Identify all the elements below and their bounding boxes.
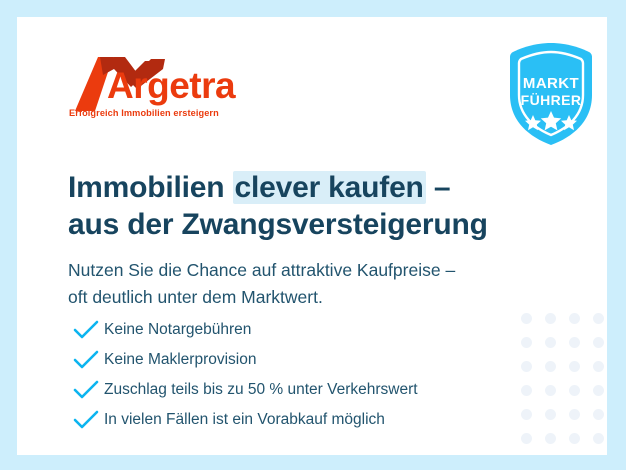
benefit-list: Keine Notargebühren Keine Maklerprovisio… [72,315,502,435]
list-item-label: Zuschlag teils bis zu 50 % unter Verkehr… [102,382,418,398]
dot [593,361,604,372]
badge-line-2: FÜHRER [495,92,607,108]
dot [569,361,580,372]
badge-line-1: MARKT [495,75,607,92]
dot [521,433,532,444]
subheading: Nutzen Sie die Chance auf attraktive Kau… [68,257,538,311]
promo-card: Argetra Erfolgreich Immobilien ersteiger… [17,17,607,455]
dot [569,433,580,444]
headline-highlight: clever kaufen [233,171,426,204]
dot [569,385,580,396]
headline-line-1-before: Immobilien [68,171,233,204]
list-item-label: Keine Notargebühren [102,322,251,338]
dot [545,385,556,396]
dot [521,313,532,324]
list-item-label: Keine Maklerprovision [102,352,257,368]
dot [545,361,556,372]
dot [521,385,532,396]
dot-grid-decoration [521,313,607,455]
dot [593,337,604,348]
dot [521,361,532,372]
argetra-logo[interactable]: Argetra Erfolgreich Immobilien ersteiger… [55,45,255,131]
list-item-label: In vielen Fällen ist ein Vorabkauf mögli… [102,412,385,428]
dot [593,313,604,324]
subheading-line-1: Nutzen Sie die Chance auf attraktive Kau… [68,257,538,284]
list-item: Keine Notargebühren [72,315,502,345]
dot [545,337,556,348]
check-icon [72,409,102,431]
list-item: In vielen Fällen ist ein Vorabkauf mögli… [72,405,502,435]
dot [593,409,604,420]
subheading-line-2: oft deutlich unter dem Marktwert. [68,284,538,311]
promo-banner: Argetra Erfolgreich Immobilien ersteiger… [0,0,626,470]
dot [521,409,532,420]
headline-line-1: Immobilien clever kaufen – [68,170,568,207]
dot [593,385,604,396]
logo-tagline: Erfolgreich Immobilien ersteigern [69,108,219,118]
check-icon [72,379,102,401]
logo-wordmark: Argetra [107,67,235,104]
badge-stars [495,111,607,131]
headline-line-2: aus der Zwangsversteigerung [68,207,568,244]
dot [521,337,532,348]
dot [545,433,556,444]
list-item: Zuschlag teils bis zu 50 % unter Verkehr… [72,375,502,405]
dot [593,433,604,444]
dot [569,409,580,420]
check-icon [72,349,102,371]
dot [545,409,556,420]
page-title: Immobilien clever kaufen – aus der Zwang… [68,170,568,244]
dot [545,313,556,324]
headline-line-1-after: – [426,171,451,204]
dot [569,337,580,348]
list-item: Keine Maklerprovision [72,345,502,375]
dot [569,313,580,324]
check-icon [72,319,102,341]
market-leader-badge: MARKT FÜHRER [495,39,607,149]
